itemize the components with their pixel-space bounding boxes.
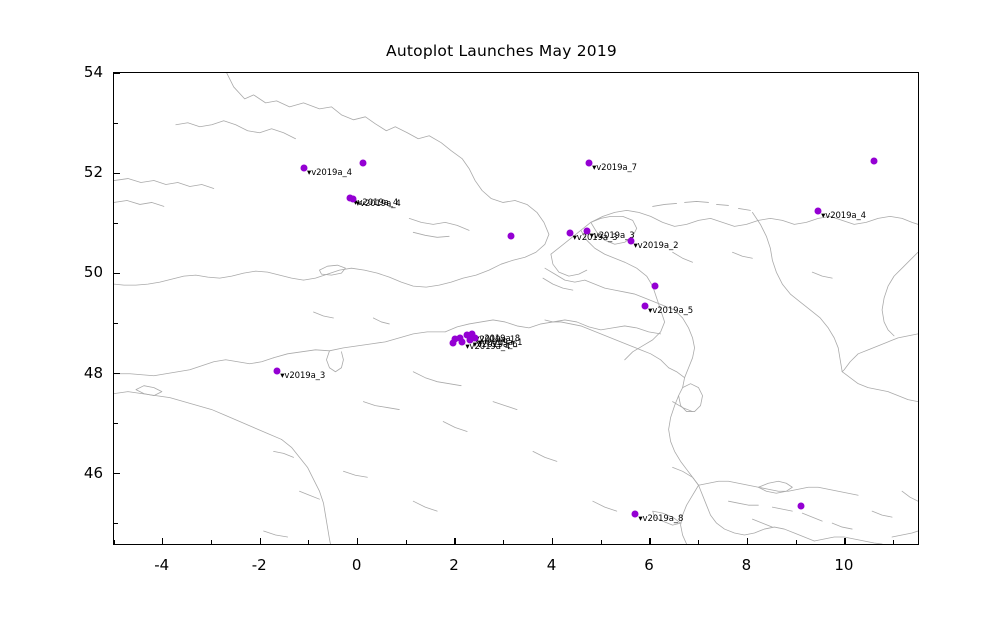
x-tick-label: 8 bbox=[742, 556, 752, 574]
x-tick-minor bbox=[114, 540, 115, 544]
data-point-label: ▾v2019a_7 bbox=[592, 163, 637, 173]
x-tick-major bbox=[454, 538, 455, 544]
data-point-label: ▾v2019a_4 bbox=[356, 199, 401, 209]
x-tick-major bbox=[552, 538, 553, 544]
y-tick-minor bbox=[114, 423, 118, 424]
x-tick-major bbox=[649, 538, 650, 544]
data-point-marker[interactable] bbox=[871, 157, 878, 164]
map-basemap bbox=[114, 73, 918, 544]
page-title: Autoplot Launches May 2019 bbox=[0, 42, 1003, 60]
data-point-marker[interactable] bbox=[651, 282, 658, 289]
x-tick-label: -4 bbox=[154, 556, 169, 574]
y-tick-label: 54 bbox=[84, 63, 103, 81]
y-tick-label: 52 bbox=[84, 163, 103, 181]
y-tick-major bbox=[114, 173, 120, 174]
data-point-label: ▾v2019a_5 bbox=[648, 306, 693, 316]
x-tick-major bbox=[844, 538, 845, 544]
data-point-marker[interactable] bbox=[359, 160, 366, 167]
x-tick-minor bbox=[698, 540, 699, 544]
plot-axes: ▾v2019a_4▾v2019a_4▾v2019a_4▾v2019a_7▾v20… bbox=[113, 72, 919, 545]
x-tick-minor bbox=[796, 540, 797, 544]
y-tick-label: 50 bbox=[84, 263, 103, 281]
data-point-marker[interactable] bbox=[449, 339, 456, 346]
x-tick-major bbox=[747, 538, 748, 544]
data-point-label: ▾v2019a_3 bbox=[280, 371, 325, 381]
y-tick-minor bbox=[114, 223, 118, 224]
data-point-marker[interactable] bbox=[508, 232, 515, 239]
data-point-label: ▾v2019a_8 bbox=[638, 514, 683, 524]
data-point-label: ▾v2019a_4 bbox=[307, 168, 352, 178]
data-point-marker[interactable] bbox=[798, 503, 805, 510]
y-axis-tick-labels: 4648505254 bbox=[60, 72, 103, 545]
y-tick-minor bbox=[114, 123, 118, 124]
data-point-label: ▾v2019a_2 bbox=[634, 241, 679, 251]
y-tick-minor bbox=[114, 323, 118, 324]
x-tick-minor bbox=[601, 540, 602, 544]
chart-root: Autoplot Launches May 2019 4648505254 bbox=[0, 0, 1003, 633]
y-tick-minor bbox=[114, 523, 118, 524]
x-tick-minor bbox=[211, 540, 212, 544]
x-tick-label: 0 bbox=[352, 556, 362, 574]
x-axis-tick-labels: -4-20246810 bbox=[113, 556, 919, 580]
x-tick-label: 10 bbox=[834, 556, 853, 574]
y-tick-label: 46 bbox=[84, 464, 103, 482]
data-point-label: ▾v2019a_4 bbox=[821, 211, 866, 221]
data-point-label: ▾v2019a_4 bbox=[465, 342, 510, 352]
x-tick-label: 4 bbox=[547, 556, 557, 574]
x-tick-major bbox=[260, 538, 261, 544]
x-tick-minor bbox=[893, 540, 894, 544]
y-tick-major bbox=[114, 72, 120, 73]
x-tick-minor bbox=[503, 540, 504, 544]
x-tick-label: -2 bbox=[252, 556, 267, 574]
y-tick-major bbox=[114, 473, 120, 474]
x-tick-minor bbox=[406, 540, 407, 544]
x-tick-major bbox=[357, 538, 358, 544]
x-tick-label: 2 bbox=[449, 556, 459, 574]
x-tick-major bbox=[162, 538, 163, 544]
y-tick-label: 48 bbox=[84, 364, 103, 382]
x-tick-minor bbox=[308, 540, 309, 544]
y-tick-major bbox=[114, 373, 120, 374]
x-tick-label: 6 bbox=[644, 556, 654, 574]
y-tick-major bbox=[114, 273, 120, 274]
